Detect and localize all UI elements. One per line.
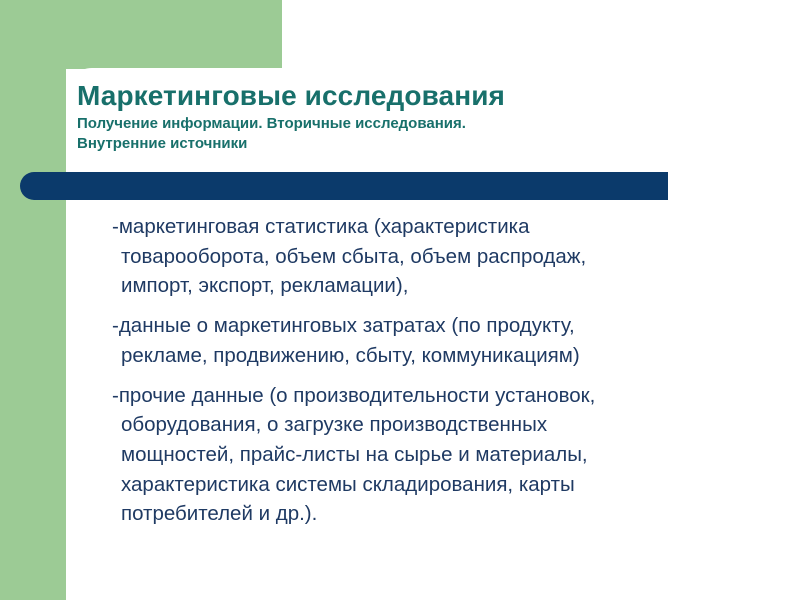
page-title: Маркетинговые исследования	[77, 80, 777, 112]
bullet-line: -данные о маркетинговых затратах (по про…	[121, 311, 732, 341]
bullet-line: мощностей, прайс-листы на сырье и матери…	[121, 440, 732, 470]
subtitle-line-1: Получение информации. Вторичные исследов…	[77, 114, 777, 134]
presentation-slide: Маркетинговые исследования Получение инф…	[0, 0, 800, 600]
bullet-line: -прочие данные (о производительности уст…	[121, 381, 732, 411]
bullet-item: -данные о маркетинговых затратах (по про…	[112, 311, 732, 370]
bullet-line: товарооборота, объем сбыта, объем распро…	[121, 242, 732, 272]
bullet-line: -маркетинговая статистика (характеристик…	[121, 212, 732, 242]
bullet-item: -прочие данные (о производительности уст…	[112, 381, 732, 530]
green-top-band-decoration	[0, 0, 282, 69]
bullet-line: оборудования, о загрузке производственны…	[121, 410, 732, 440]
title-block: Маркетинговые исследования Получение инф…	[77, 80, 777, 154]
page-subtitle: Получение информации. Вторичные исследов…	[77, 114, 777, 154]
navy-divider-bar-decoration	[20, 172, 668, 200]
bullet-line: рекламе, продвижению, сбыту, коммуникаци…	[121, 341, 732, 371]
bullet-line: потребителей и др.).	[121, 499, 732, 529]
bullet-line: импорт, экспорт, рекламации),	[121, 271, 732, 301]
green-left-strip-decoration	[0, 0, 66, 600]
bullet-item: -маркетинговая статистика (характеристик…	[112, 212, 732, 301]
body-content: -маркетинговая статистика (характеристик…	[112, 212, 732, 529]
subtitle-line-2: Внутренние источники	[77, 134, 777, 154]
bullet-line: характеристика системы складирования, ка…	[121, 470, 732, 500]
